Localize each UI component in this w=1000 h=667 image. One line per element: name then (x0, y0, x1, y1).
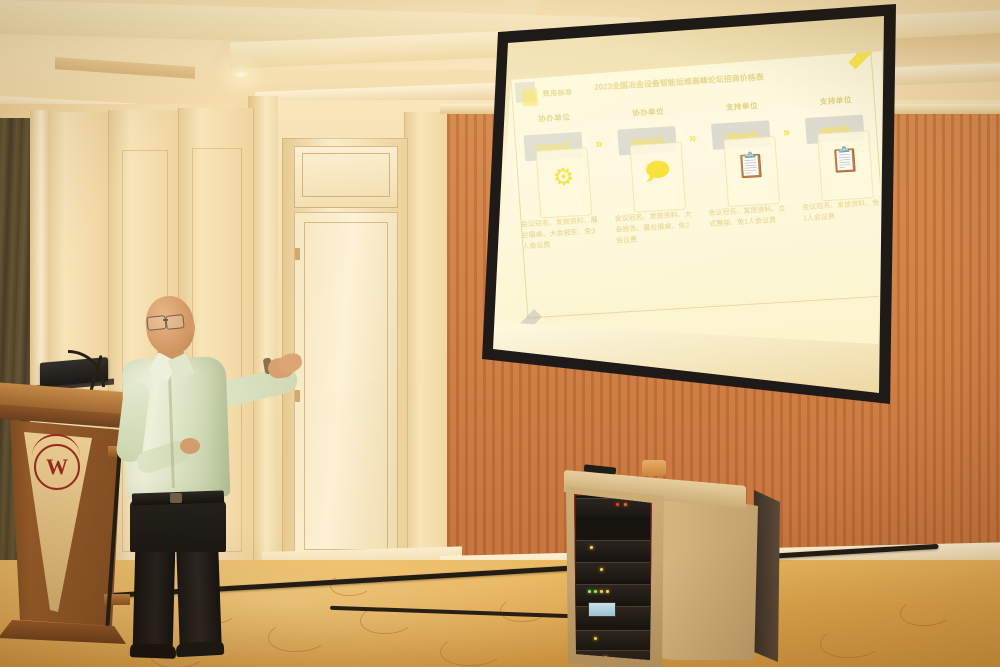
price-card: 30000元 ⚙ (524, 126, 592, 222)
speech-bubble-icon: 🗩 (632, 159, 684, 186)
shoe-right (176, 641, 225, 657)
chevron-separator-3: » (782, 124, 788, 139)
rack-rear-door[interactable] (754, 484, 780, 662)
led-indicator-yellow (606, 590, 609, 593)
leg-left (133, 543, 176, 652)
led-indicator-green (594, 590, 597, 593)
door-panel-inset (304, 222, 388, 550)
rack-unit[interactable] (576, 540, 650, 559)
lcd-display (588, 602, 616, 617)
speaker-presenter (118, 296, 298, 658)
leg-right (176, 543, 222, 650)
card-body: 🗩 (629, 142, 686, 213)
glasses-lens-right (165, 314, 184, 330)
glasses-bridge (163, 319, 168, 321)
hand-left-on-hip (180, 438, 200, 454)
slide-column-4: 支持单位 5000元 📋 (798, 93, 880, 204)
column-description: 会议冠名、发放资料、大会报告、展台展桌、免2会议费 (614, 210, 696, 247)
recessed-downlight-icon (232, 70, 250, 79)
price-card: 5000元 📋 (806, 108, 874, 204)
slide-column-1: 协办单位 30000元 ⚙ (517, 110, 599, 221)
ear (184, 320, 195, 335)
belt-buckle (170, 493, 182, 503)
lectern-podium: W (0, 382, 134, 662)
projection-screen: 费用标准 2023全国冶金设备智能运维高峰论坛招商价格表 协办单位 30000元… (478, 4, 908, 424)
glasses-lens-left (146, 315, 166, 331)
podium-logo-w: W (34, 444, 80, 490)
led-indicator-orange (624, 503, 627, 506)
rack-equipment-bay (574, 494, 652, 660)
hips (130, 500, 226, 552)
presentation-room-photo: 费用标准 2023全国冶金设备智能运维高峰论坛招商价格表 协办单位 30000元… (0, 0, 1000, 667)
led-indicator-yellow (594, 637, 597, 640)
clipboard-icon: 📋 (819, 147, 871, 174)
chevron-separator-1: » (595, 136, 601, 151)
rack-unit[interactable] (576, 630, 650, 649)
document-edit-icon: 📋 (725, 153, 777, 180)
av-equipment-rack (562, 470, 782, 667)
led-indicator-green (588, 590, 591, 593)
price-card: 20000元 🗩 (618, 120, 686, 216)
slide-tag-chip-yellow (522, 88, 538, 106)
slide-column-2: 协办单位 20000元 🗩 (611, 104, 693, 215)
shoe-left (130, 643, 176, 659)
rack-unit[interactable] (576, 584, 650, 603)
slide-column-3: 支持单位 10000元 📋 (705, 99, 787, 210)
tape-roll (642, 460, 666, 476)
led-indicator-yellow (590, 546, 593, 549)
led-indicator-red (616, 503, 619, 506)
column-description: 会议冠名、发放资料、展台展桌、大会报告、免3人会议费 (521, 216, 603, 253)
slide-tag-label: 费用标准 (542, 87, 573, 99)
chevron-separator-2: » (689, 130, 695, 145)
door-transom-panel (302, 153, 390, 197)
rack-unit[interactable] (576, 562, 650, 581)
card-body: 📋 (723, 136, 780, 207)
card-body: 📋 (817, 130, 874, 201)
door-hinge-upper (295, 248, 300, 260)
price-card: 10000元 📋 (712, 114, 780, 210)
gear-icon: ⚙ (538, 164, 590, 191)
led-indicator-yellow (600, 568, 603, 571)
led-indicator-yellow (600, 590, 603, 593)
card-body: ⚙ (536, 147, 593, 218)
